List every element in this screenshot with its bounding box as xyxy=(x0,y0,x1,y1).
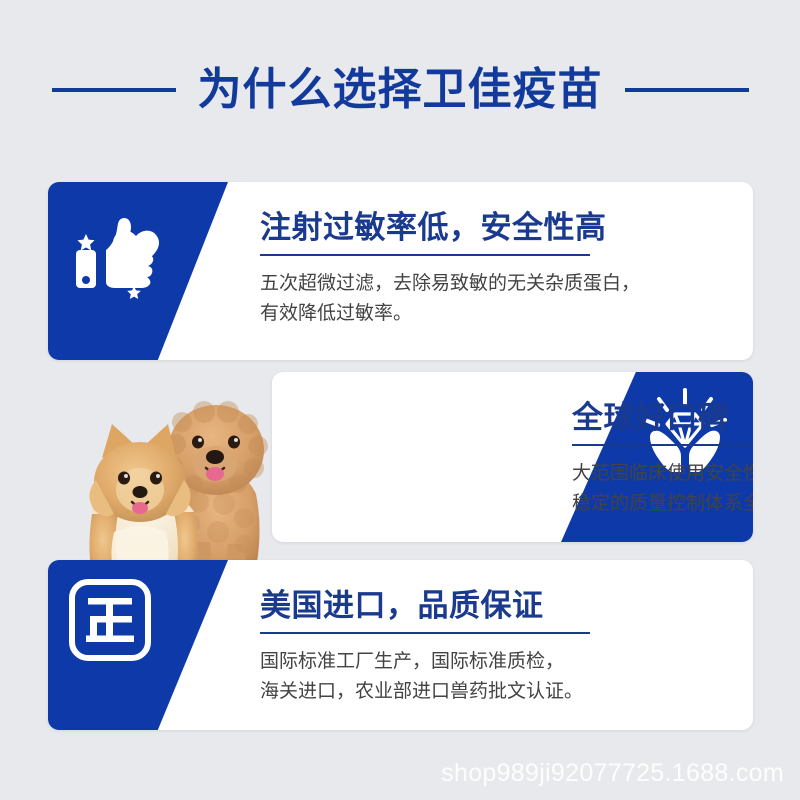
card-2-description: 大范围临床使用安全性高， 稳定的质量控制体系全程冷链运输和管理 xyxy=(572,459,603,521)
card-2-body: 全球好口碑 大范围临床使用安全性高， 稳定的质量控制体系全程冷链运输和管理 xyxy=(572,400,603,520)
zheng-certification-icon xyxy=(62,572,162,672)
page-title: 为什么选择卫佳疫苗 xyxy=(198,68,603,112)
card-1-description: 五次超微过滤，去除易致敏的无关杂质蛋白， 有效降低过敏率。 xyxy=(260,269,729,331)
card-3-body: 美国进口，品质保证 国际标准工厂生产，国际标准质检， 海关进口，农业部进口兽药批… xyxy=(260,588,729,708)
feature-card-3: 美国进口，品质保证 国际标准工厂生产，国际标准质检， 海关进口，农业部进口兽药批… xyxy=(48,560,753,730)
page-header: 为什么选择卫佳疫苗 xyxy=(0,58,800,122)
feature-card-1: 注射过敏率低，安全性高 五次超微过滤，去除易致敏的无关杂质蛋白， 有效降低过敏率… xyxy=(48,182,753,360)
card-3-title-rule xyxy=(260,632,590,634)
shop-watermark: shop989ji92077725.1688.com xyxy=(441,759,784,788)
card-2-desc-line-1: 大范围临床使用安全性高， xyxy=(572,459,603,490)
card-1-desc-line-2: 有效降低过敏率。 xyxy=(260,299,729,330)
two-dogs-photo xyxy=(48,392,298,582)
card-2-desc-line-2: 稳定的质量控制体系全程冷链运输和管理 xyxy=(572,489,603,520)
card-2-title-rule xyxy=(572,444,752,446)
card-1-title: 注射过敏率低，安全性高 xyxy=(260,210,729,247)
card-1-desc-line-1: 五次超微过滤，去除易致敏的无关杂质蛋白， xyxy=(260,269,729,300)
card-2-title: 全球好口碑 xyxy=(572,400,603,437)
header-rule-right xyxy=(625,88,749,92)
card-1-title-rule xyxy=(260,254,590,256)
card-3-desc-line-1: 国际标准工厂生产，国际标准质检， xyxy=(260,647,729,678)
card-3-description: 国际标准工厂生产，国际标准质检， 海关进口，农业部进口兽药批文认证。 xyxy=(260,647,729,709)
card-3-title: 美国进口，品质保证 xyxy=(260,588,729,625)
card-3-desc-line-2: 海关进口，农业部进口兽药批文认证。 xyxy=(260,677,729,708)
card-1-body: 注射过敏率低，安全性高 五次超微过滤，去除易致敏的无关杂质蛋白， 有效降低过敏率… xyxy=(260,210,729,330)
thumbs-up-heart-icon xyxy=(62,198,182,308)
feature-card-2: 全球好口碑 大范围临床使用安全性高， 稳定的质量控制体系全程冷链运输和管理 xyxy=(272,372,753,542)
header-rule-left xyxy=(52,88,176,92)
